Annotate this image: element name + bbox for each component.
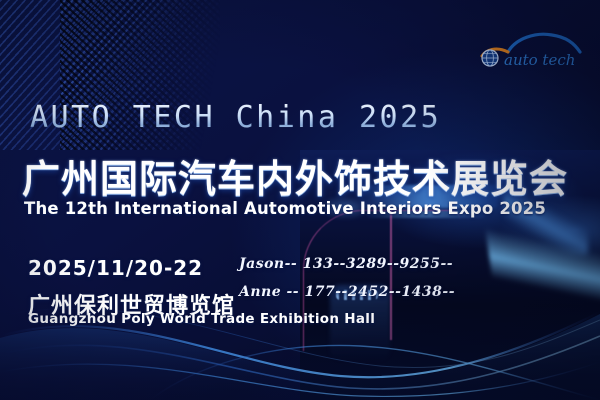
contact-anne: Anne -- 177--2452--1438-- (239, 284, 455, 300)
event-banner: auto tech AUTO TECH China 2025 广州国际汽车内外饰… (0, 0, 600, 400)
title-chinese: 广州国际汽车内外饰技术展览会 (22, 148, 568, 203)
title-english: AUTO TECH China 2025 (30, 100, 441, 135)
venue-english: Guangzhou Poly World Trade Exhibition Ha… (28, 311, 375, 327)
event-date: 2025/11/20-22 (28, 256, 203, 280)
contact-jason: Jason-- 133--3289--9255-- (239, 256, 453, 272)
banner-content: AUTO TECH China 2025 广州国际汽车内外饰技术展览会 The … (0, 0, 600, 400)
subtitle-english: The 12th International Automotive Interi… (24, 199, 546, 218)
